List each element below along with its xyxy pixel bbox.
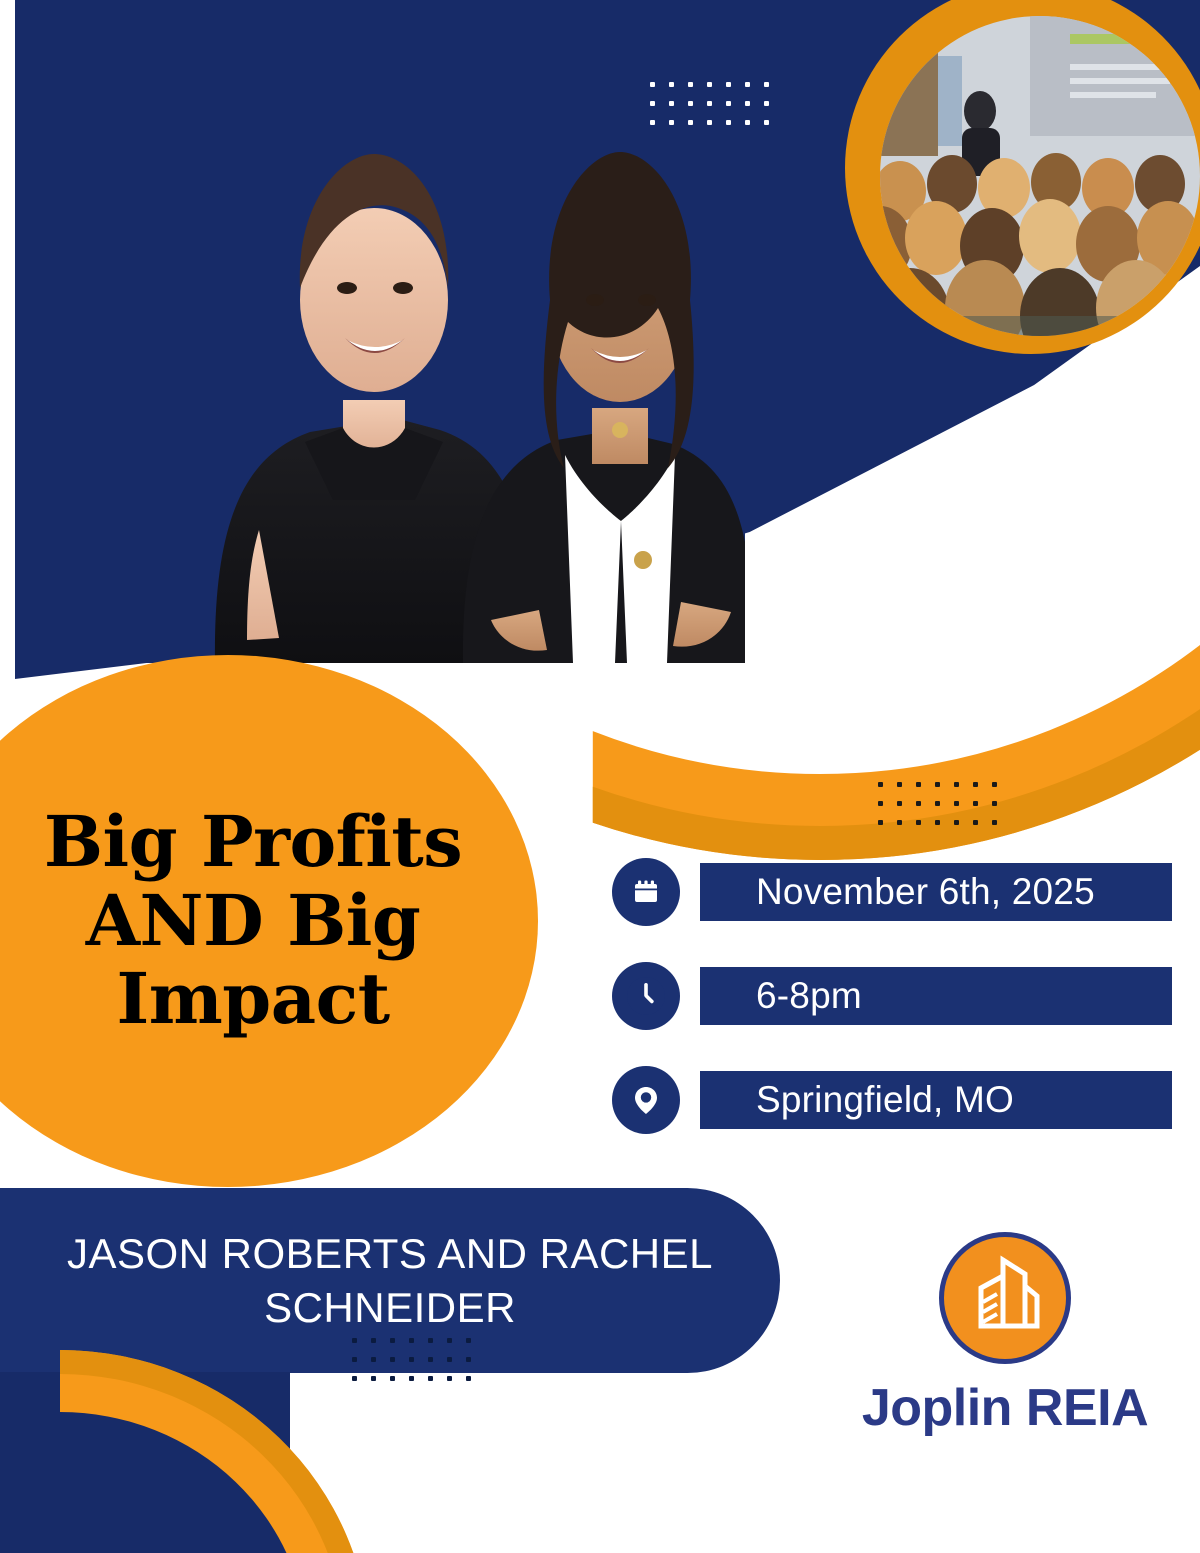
calendar-icon [612,858,680,926]
event-flyer: Big Profits AND Big Impact November 6th,… [0,0,1200,1553]
logo-text: Joplin REIA [855,1378,1155,1438]
event-location-label: Springfield, MO [756,1079,1014,1121]
clock-icon [612,962,680,1030]
dot-grid-middle [878,782,1011,839]
event-info-date-row: November 6th, 2025 [612,858,1172,926]
dot-grid-banner [352,1338,485,1395]
dot-grid-top [650,82,783,139]
event-info-time-row: 6-8pm [612,962,1172,1030]
title-line-1: Big Profits [13,803,493,881]
event-info-location-row: Springfield, MO [612,1066,1172,1134]
event-location-bar: Springfield, MO [700,1071,1172,1129]
speakers-names: JASON ROBERTS AND RACHEL SCHNEIDER [0,1227,780,1335]
event-date-bar: November 6th, 2025 [700,863,1172,921]
event-date-label: November 6th, 2025 [756,871,1095,913]
title-line-2: AND Big [13,882,493,960]
location-pin-icon [612,1066,680,1134]
title-line-3: Impact [13,960,493,1038]
building-skyline-icon [939,1232,1071,1364]
title-circle: Big Profits AND Big Impact [0,655,538,1187]
logo: Joplin REIA [855,1232,1155,1438]
event-time-label: 6-8pm [756,975,862,1017]
event-info-list: November 6th, 2025 6-8pm [612,858,1172,1170]
event-time-bar: 6-8pm [700,967,1172,1025]
audience-photo [880,16,1200,336]
page-title: Big Profits AND Big Impact [13,803,493,1038]
